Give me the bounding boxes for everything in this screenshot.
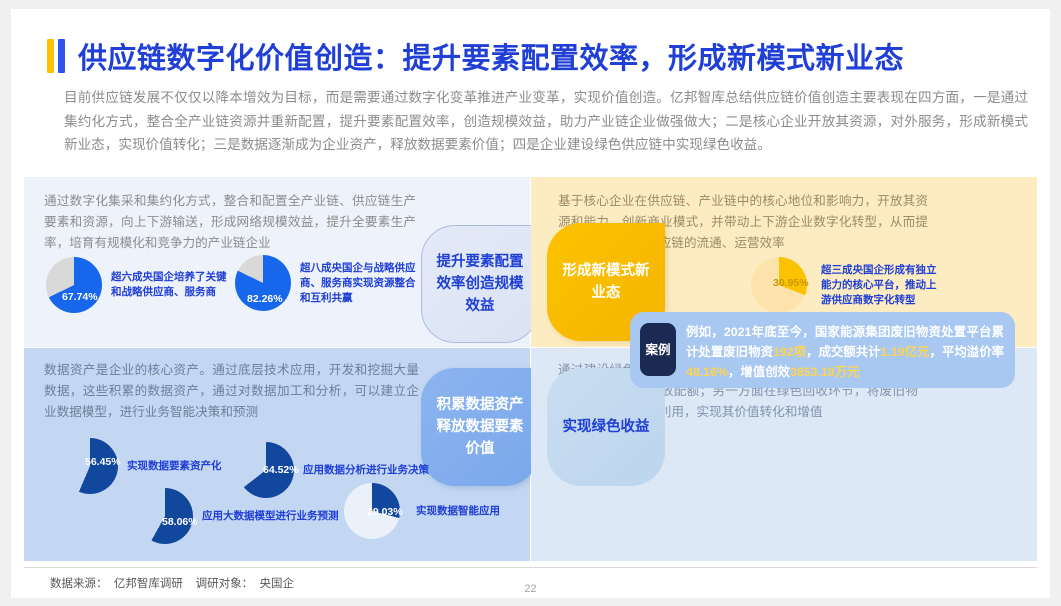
pie-chart: 82.26%: [235, 255, 291, 311]
pie-caption: 超六成央国企培养了关键 和战略供应商、服务商: [111, 270, 227, 300]
pie-value-label: 58.06%: [162, 516, 198, 528]
pie-chart: 56.45%: [62, 438, 118, 494]
pie-item: 30.95% 超三成央国企形成有独立 能力的核心平台，推动上 游供应商数字化转型: [751, 257, 937, 313]
pie-value-label: 56.45%: [85, 456, 121, 468]
pie-caption: 超八成央国企与战略供应 商、服务商实现资源整合 和互利共赢: [300, 261, 416, 306]
case-callout: 案例 例如，2021年底至今，国家能源集团废旧物资处置平台累计处置废旧物资192…: [630, 312, 1015, 388]
badge-data-assets[interactable]: 积累数据资产释放数据要素价值: [421, 368, 539, 486]
pie-chart: 30.95%: [751, 257, 807, 313]
page-number: 22: [11, 583, 1050, 595]
pie-caption: 应用大数据模型进行业务预测: [202, 509, 339, 524]
quadrant-body-text: 数据资产是企业的核心资产。通过底层技术应用，开发和挖掘大量数据，这些积累的数据资…: [44, 360, 419, 423]
pie-caption: 实现数据智能应用: [416, 504, 500, 519]
slide-canvas: 供应链数字化价值创造：提升要素配置效率，形成新模式新业态 目前供应链发展不仅仅以…: [11, 9, 1050, 598]
pie-item: 58.06% 应用大数据模型进行业务预测: [137, 488, 339, 544]
pie-value-label: 64.52%: [263, 464, 299, 476]
pie-value-label: 82.26%: [247, 293, 283, 305]
intro-paragraph: 目前供应链发展不仅仅以降本增效为目标，而是需要通过数字化变革推进产业变革，实现价…: [64, 86, 1028, 157]
badge-improve-allocation[interactable]: 提升要素配置效率创造规模效益: [421, 225, 539, 343]
pie-value-label: 29.03%: [367, 506, 403, 518]
pie-caption: 应用数据分析进行业务决策: [303, 463, 429, 478]
pie-item: 29.03% 实现数据智能应用: [344, 483, 500, 539]
case-tag-badge: 案例: [640, 323, 676, 376]
pie-item: 67.74% 超六成央国企培养了关键 和战略供应商、服务商: [46, 257, 227, 313]
pie-item: 56.45% 实现数据要素资产化: [62, 438, 222, 494]
quadrant-data-assets: 数据资产是企业的核心资产。通过底层技术应用，开发和挖掘大量数据，这些积累的数据资…: [24, 348, 530, 561]
pie-caption: 实现数据要素资产化: [127, 459, 222, 474]
pie-value-label: 67.74%: [62, 291, 98, 303]
pie-item: 82.26% 超八成央国企与战略供应 商、服务商实现资源整合 和互利共赢: [235, 255, 416, 311]
case-text: 例如，2021年底至今，国家能源集团废旧物资处置平台累计处置废旧物资192项，成…: [686, 322, 1004, 382]
title-text: 供应链数字化价值创造：提升要素配置效率，形成新模式新业态: [78, 35, 904, 77]
page-title: 供应链数字化价值创造：提升要素配置效率，形成新模式新业态: [47, 34, 904, 78]
pie-chart: 67.74%: [46, 257, 102, 313]
pie-value-label: 30.95%: [773, 277, 809, 289]
pie-chart: 29.03%: [344, 483, 400, 539]
quadrant-body-text: 通过数字化集采和集约化方式，整合和配置全产业链、供应链生产要素和资源，向上下游输…: [44, 191, 416, 254]
title-accent-bar-yellow: [47, 39, 54, 73]
pie-caption: 超三成央国企形成有独立 能力的核心平台，推动上 游供应商数字化转型: [821, 263, 937, 308]
title-accent-bar-blue: [58, 39, 65, 73]
quadrant-improve-allocation: 通过数字化集采和集约化方式，整合和配置全产业链、供应链生产要素和资源，向上下游输…: [24, 177, 530, 347]
footer-divider: [24, 567, 1037, 568]
pie-chart: 58.06%: [137, 488, 193, 544]
